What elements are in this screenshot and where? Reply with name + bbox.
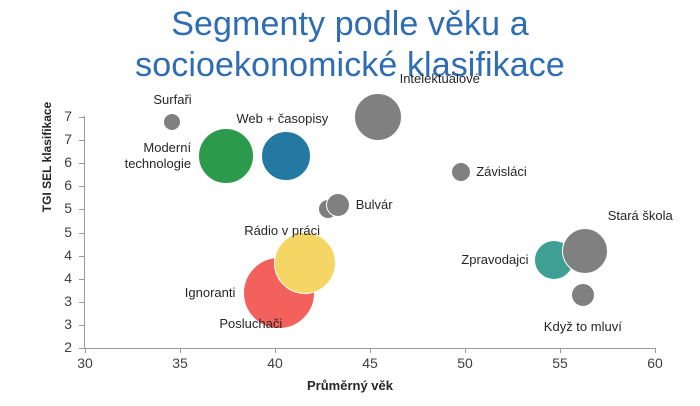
y-tick-mark xyxy=(79,233,84,234)
y-tick-mark xyxy=(79,256,84,257)
y-tick-mark xyxy=(79,348,84,349)
x-tick-mark xyxy=(655,348,656,353)
x-tick-label: 35 xyxy=(160,355,200,371)
x-tick-mark xyxy=(180,348,181,353)
x-tick-label: 30 xyxy=(65,355,105,371)
x-tick-mark xyxy=(560,348,561,353)
bubble-intelektuálové[interactable] xyxy=(354,93,402,141)
bubble-chart: Segmenty podle věku a socioekonomické kl… xyxy=(0,0,700,406)
y-tick-mark xyxy=(79,140,84,141)
x-tick-label: 60 xyxy=(635,355,675,371)
bubble-label: Závisláci xyxy=(476,164,527,180)
bubble-web-+-časopisy[interactable] xyxy=(261,131,311,181)
bubble-label: Ignoranti xyxy=(185,285,236,301)
bubble-závisláci[interactable] xyxy=(451,162,471,182)
x-tick-mark xyxy=(465,348,466,353)
bubble-label: Bulvár xyxy=(356,197,393,213)
y-tick-mark xyxy=(79,325,84,326)
x-tick-label: 45 xyxy=(350,355,390,371)
y-tick-mark xyxy=(79,186,84,187)
y-tick-mark xyxy=(79,279,84,280)
bubble-label: Web + časopisy xyxy=(236,111,328,127)
x-tick-label: 55 xyxy=(540,355,580,371)
x-tick-label: 40 xyxy=(255,355,295,371)
y-tick-mark xyxy=(79,163,84,164)
bubble-moderní-technologie[interactable] xyxy=(198,128,254,184)
bubble-label: Surfaři xyxy=(153,92,191,108)
y-axis-line xyxy=(84,116,85,349)
bubble-stará-škola[interactable] xyxy=(562,228,608,274)
y-axis-title: TGI SEL klasifikace xyxy=(40,72,54,242)
y-tick-label: 4 xyxy=(48,247,72,263)
bubble-posluchači[interactable] xyxy=(274,232,336,294)
bubble-label: Rádio v práci xyxy=(244,223,320,239)
x-tick-mark xyxy=(85,348,86,353)
x-tick-mark xyxy=(275,348,276,353)
bubble-label: Posluchači xyxy=(219,316,282,332)
bubble-bulvár[interactable] xyxy=(326,193,350,217)
bubble-když-to-mluví[interactable] xyxy=(571,283,595,307)
x-tick-label: 50 xyxy=(445,355,485,371)
y-tick-label: 4 xyxy=(48,270,72,286)
chart-title: Segmenty podle věku a socioekonomické kl… xyxy=(0,4,700,86)
bubble-label: Zpravodajci xyxy=(461,252,528,268)
bubble-surfaři[interactable] xyxy=(164,114,180,130)
y-tick-mark xyxy=(79,117,84,118)
bubble-label: Když to mluví xyxy=(544,319,622,335)
bubble-label: Stará škola xyxy=(608,208,673,224)
x-tick-mark xyxy=(370,348,371,353)
y-tick-label: 3 xyxy=(48,293,72,309)
y-tick-mark xyxy=(79,209,84,210)
y-tick-mark xyxy=(79,302,84,303)
x-axis-title: Průměrný věk xyxy=(0,378,700,393)
y-tick-label: 2 xyxy=(48,339,72,355)
bubble-label: Intelektuálové xyxy=(400,71,480,87)
y-tick-label: 3 xyxy=(48,316,72,332)
bubble-label: Moderní technologie xyxy=(125,140,192,172)
